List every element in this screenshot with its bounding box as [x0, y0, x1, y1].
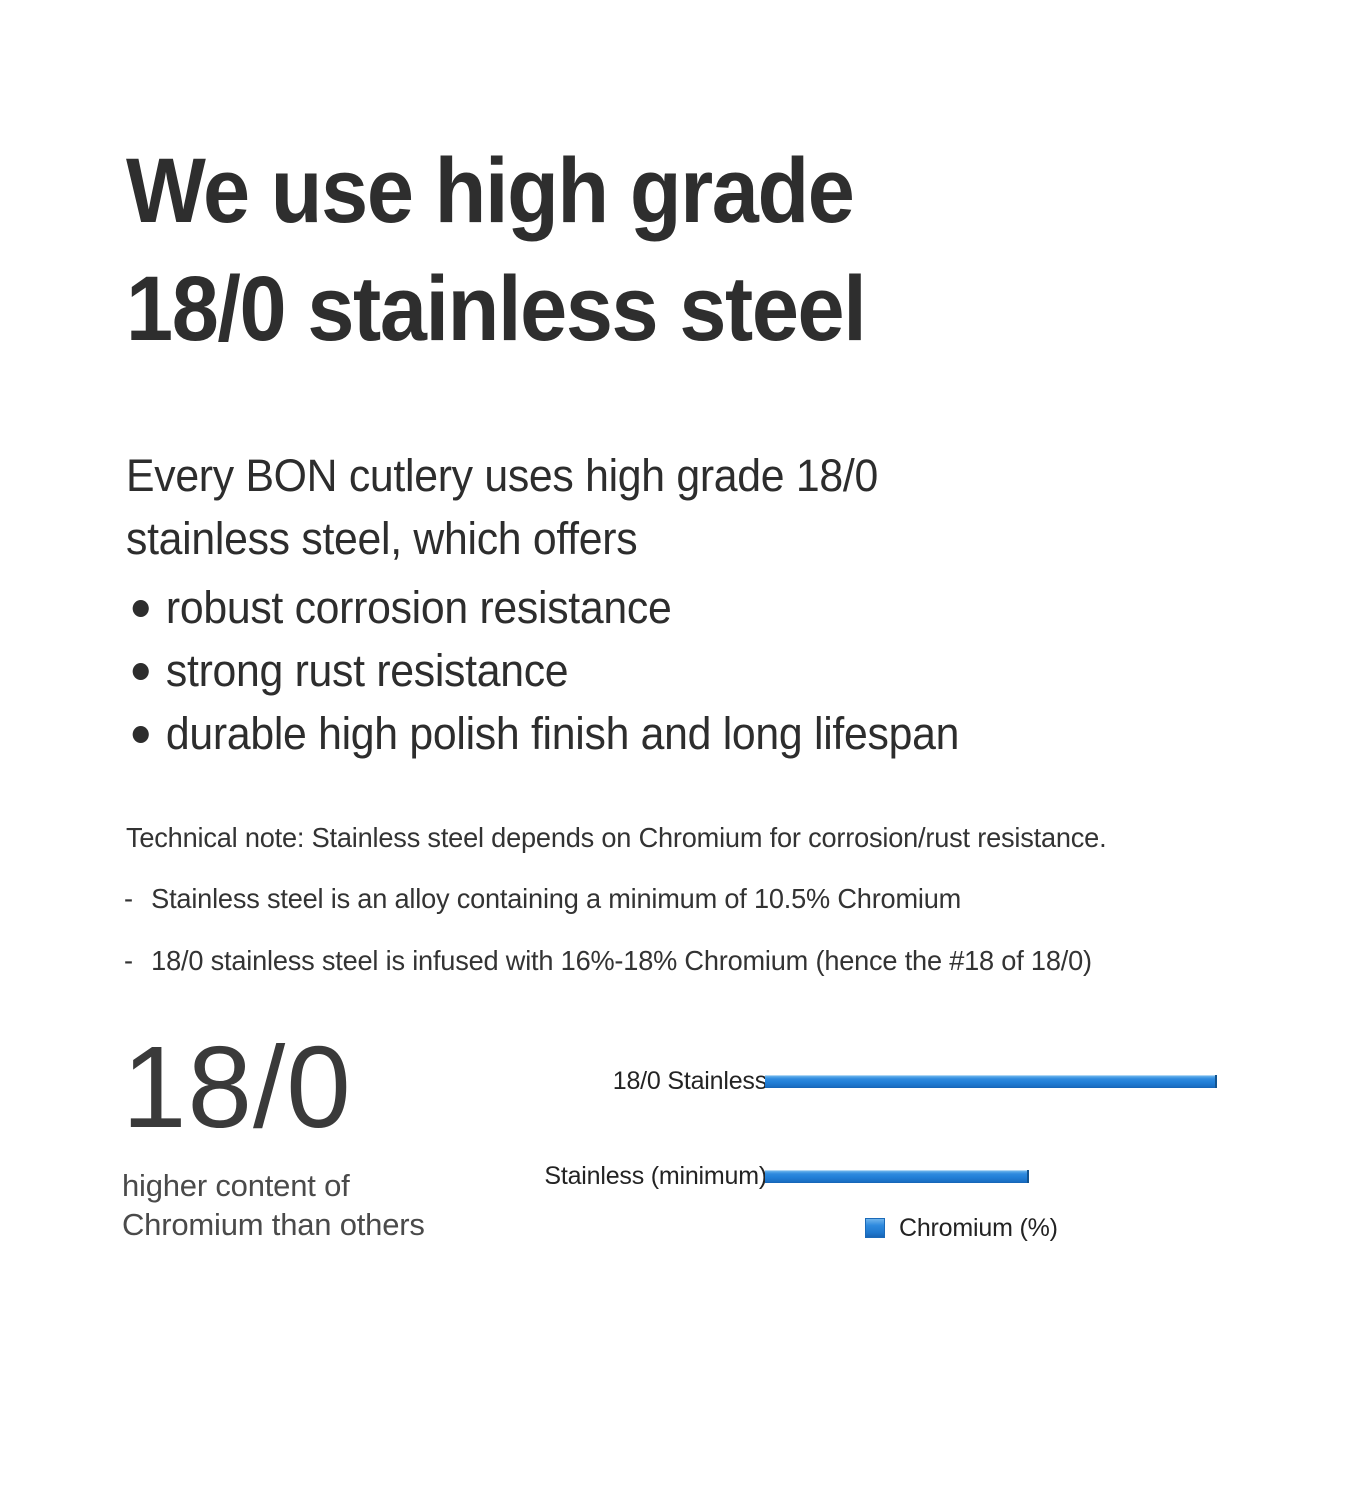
bullet-point-icon [126, 576, 166, 639]
legend-label: Chromium (%) [899, 1215, 1058, 1241]
bullet-point-icon [126, 702, 166, 765]
legend-color-swatch-icon [865, 1218, 885, 1238]
chart-category-label: Stainless (minimum) [347, 1163, 767, 1189]
chart-row-18-0-stainless: 18/0 Stainless [520, 1068, 1280, 1094]
chromium-bar-chart: 18/0 Stainless Stainless (minimum) Chrom… [520, 1046, 1280, 1276]
list-item: durable high polish finish and long life… [126, 702, 1228, 765]
intro-paragraph: Every BON cutlery uses high grade 18/0 s… [126, 444, 1190, 570]
technical-items-list: - Stainless steel is an alloy containing… [124, 878, 1288, 1002]
headline-line-1: We use high grade [126, 132, 1138, 250]
chart-track [765, 1068, 1245, 1094]
benefit-text: robust corrosion resistance [166, 576, 1228, 639]
stat-caption-line-2: Chromium than others [122, 1205, 522, 1244]
list-item: - Stainless steel is an alloy containing… [124, 878, 1288, 940]
stat-block: 18/0 higher content of Chromium than oth… [122, 1026, 522, 1244]
benefit-text: durable high polish finish and long life… [166, 702, 1228, 765]
benefit-text: strong rust resistance [166, 639, 1228, 702]
technical-item-text: 18/0 stainless steel is infused with 16%… [151, 940, 1288, 982]
technical-item-text: Stainless steel is an alloy containing a… [151, 878, 1288, 920]
chart-category-label: 18/0 Stainless [347, 1068, 767, 1094]
intro-line-2: stainless steel, which offers [126, 507, 1190, 570]
chart-track [765, 1163, 1245, 1189]
bullet-point-icon [126, 639, 166, 702]
list-item: strong rust resistance [126, 639, 1228, 702]
chart-legend: Chromium (%) [865, 1214, 1058, 1242]
list-item: robust corrosion resistance [126, 576, 1228, 639]
infographic-page: We use high grade 18/0 stainless steel E… [0, 0, 1350, 1500]
list-item: - 18/0 stainless steel is infused with 1… [124, 940, 1288, 1002]
chart-row-stainless-minimum: Stainless (minimum) [520, 1163, 1280, 1189]
headline-line-2: 18/0 stainless steel [126, 250, 1138, 368]
benefits-list: robust corrosion resistance strong rust … [126, 576, 1228, 765]
chart-bar [765, 1170, 1029, 1183]
page-title: We use high grade 18/0 stainless steel [126, 132, 1138, 368]
technical-note: Technical note: Stainless steel depends … [126, 818, 1271, 858]
intro-line-1: Every BON cutlery uses high grade 18/0 [126, 444, 1190, 507]
dash-marker-icon: - [124, 940, 151, 982]
dash-marker-icon: - [124, 878, 151, 920]
chart-bar [765, 1075, 1217, 1088]
